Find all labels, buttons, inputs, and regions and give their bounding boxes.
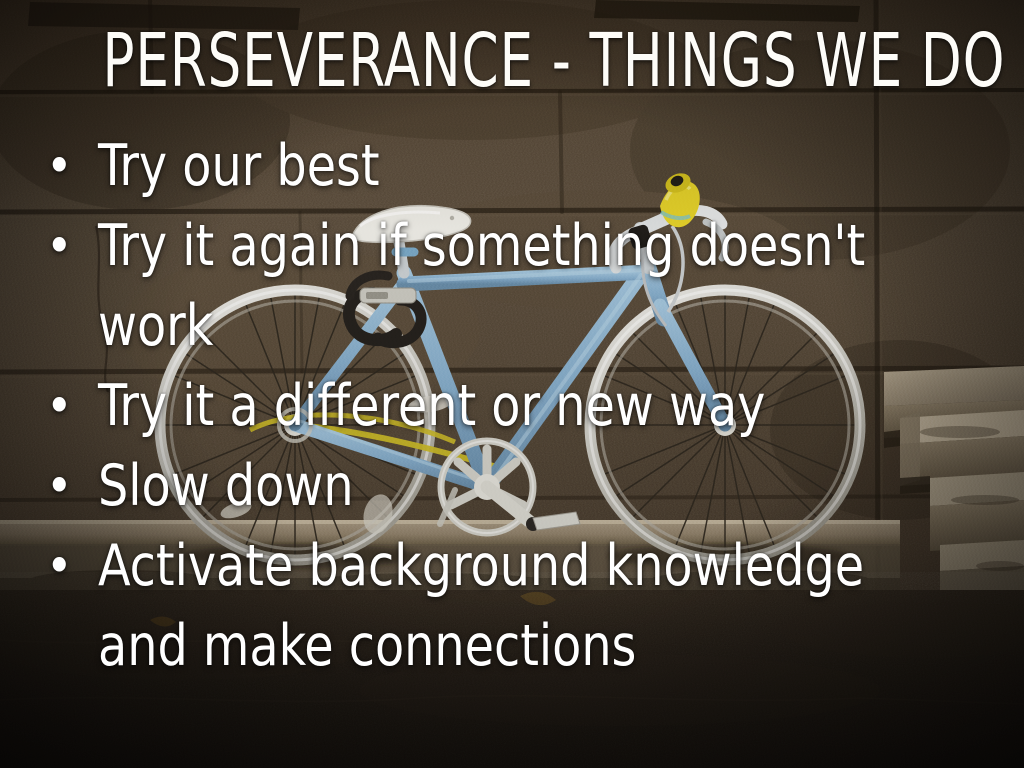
- list-item: • Try it a different or new way: [36, 366, 1016, 446]
- list-item: • Try it again if something doesn't work: [36, 206, 1016, 366]
- presentation-slide: PERSEVERANCE - THINGS WE DO • Try our be…: [0, 0, 1024, 768]
- bullet-marker-icon: •: [36, 206, 98, 286]
- bullet-text: Try it a different or new way: [98, 366, 952, 446]
- bullet-marker-icon: •: [36, 126, 98, 206]
- bullet-text: Activate background knowledge and make c…: [98, 526, 952, 686]
- bullet-marker-icon: •: [36, 446, 98, 526]
- bullet-text: Try it again if something doesn't work: [98, 206, 952, 366]
- list-item: • Slow down: [36, 446, 1016, 526]
- bullet-list: • Try our best • Try it again if somethi…: [36, 126, 1016, 686]
- list-item: • Activate background knowledge and make…: [36, 526, 1016, 686]
- list-item: • Try our best: [36, 126, 1016, 206]
- page-title: PERSEVERANCE - THINGS WE DO: [102, 18, 921, 104]
- bullet-marker-icon: •: [36, 366, 98, 446]
- bullet-text: Try our best: [98, 126, 952, 206]
- bullet-marker-icon: •: [36, 526, 98, 606]
- slide-text-layer: PERSEVERANCE - THINGS WE DO • Try our be…: [0, 0, 1024, 768]
- bullet-text: Slow down: [98, 446, 952, 526]
